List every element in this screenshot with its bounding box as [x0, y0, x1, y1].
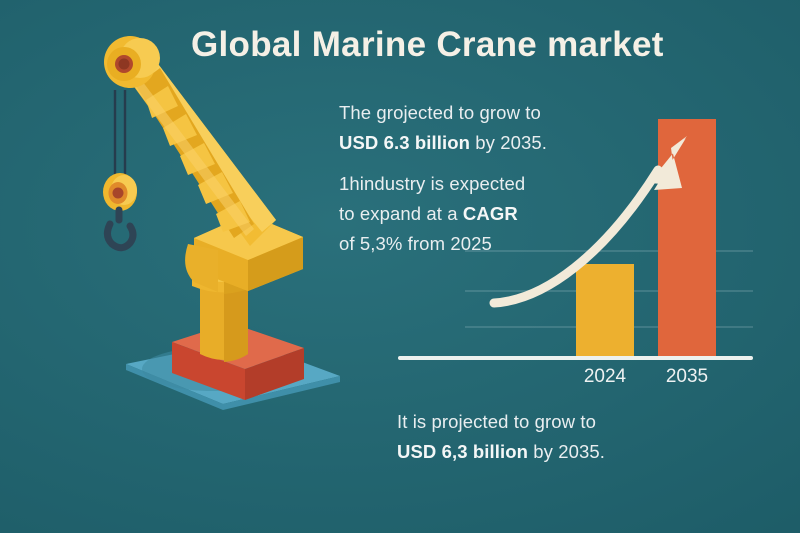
- infographic-canvas: Global Marine Crane market The grojected…: [0, 0, 800, 533]
- x-tick-label-2024: 2024: [565, 366, 645, 388]
- marine-crane-illustration: [18, 24, 348, 424]
- hook-block-icon: [103, 173, 137, 211]
- x-axis-line: [398, 356, 753, 360]
- copy3-tail: by 2035.: [528, 441, 605, 462]
- stat-block-growth-bottom: It is projected to grow to USD 6,3 billi…: [397, 407, 687, 467]
- copy3-line1: It is projected to grow to: [397, 411, 596, 432]
- page-title: Global Marine Crane market: [191, 26, 751, 65]
- bar-chart: 2024 2035: [396, 108, 756, 393]
- x-tick-label-2035: 2035: [647, 366, 727, 388]
- copy3-strong: USD 6,3 billion: [397, 441, 528, 462]
- hook-icon: [107, 210, 133, 248]
- growth-trend-arrow-icon: [486, 128, 716, 328]
